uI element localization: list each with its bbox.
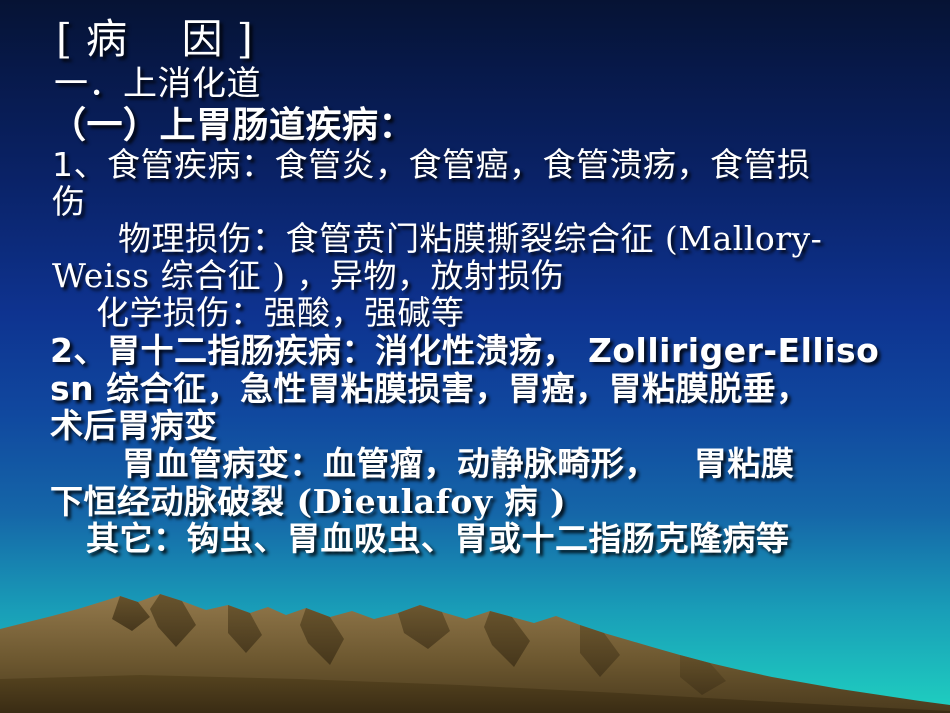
mountain-facet-1 [112, 596, 150, 631]
list-item-1-line-1: 1、食管疾病：食管炎，食管癌，食管溃疡，食管损 [10, 147, 940, 184]
list-item-2-line-3: 术后胃病变 [10, 407, 940, 445]
sub-item-vascular-lesion-line-2: 下恒经动脉破裂 (Dieulafoy 病 ) [10, 483, 940, 521]
slide-title: [ 病 因 ] [10, 14, 940, 64]
sub-item-other: 其它：钩虫、胃血吸虫、胃或十二指肠克隆病等 [10, 520, 940, 558]
mountain-facet-4 [300, 608, 344, 665]
heading-level-2: （一）上胃肠道疾病： [10, 104, 940, 147]
mountain-scenery-graphic [0, 583, 950, 713]
list-item-2-line-2: sn 综合征，急性胃粘膜损害，胃癌，胃粘膜脱垂， [10, 370, 940, 408]
sub-item-chemical-injury: 化学损伤：强酸，强碱等 [10, 295, 940, 332]
mountain-ridge-main [0, 594, 950, 713]
mountain-facet-3 [228, 605, 262, 653]
sub-item-physical-injury-line-1: 物理损伤：食管贲门粘膜撕裂综合征 (Mallory- [10, 221, 940, 258]
mountain-facet-2 [150, 594, 196, 647]
list-item-2-line-1: 2、胃十二指肠疾病：消化性溃疡， Zolliriger-Elliso [10, 332, 940, 370]
mountain-facet-5 [398, 605, 450, 649]
heading-level-1: 一．上消化道 [10, 64, 940, 104]
mountain-facet-7 [580, 625, 620, 677]
list-item-1-line-2: 伤 [10, 184, 940, 221]
slide-text-body: [ 病 因 ] 一．上消化道 （一）上胃肠道疾病： 1、食管疾病：食管炎，食管癌… [0, 0, 950, 558]
mountain-facet-8 [680, 655, 726, 695]
sub-item-physical-injury-line-2: Weiss 综合征 ) ，异物，放射损伤 [10, 258, 940, 295]
mountain-foreground-base [0, 675, 950, 713]
sub-item-vascular-lesion-line-1: 胃血管病变：血管瘤，动静脉畸形， 胃粘膜 [10, 445, 940, 483]
mountain-facet-6 [484, 611, 530, 667]
presentation-slide: [ 病 因 ] 一．上消化道 （一）上胃肠道疾病： 1、食管疾病：食管炎，食管癌… [0, 0, 950, 713]
